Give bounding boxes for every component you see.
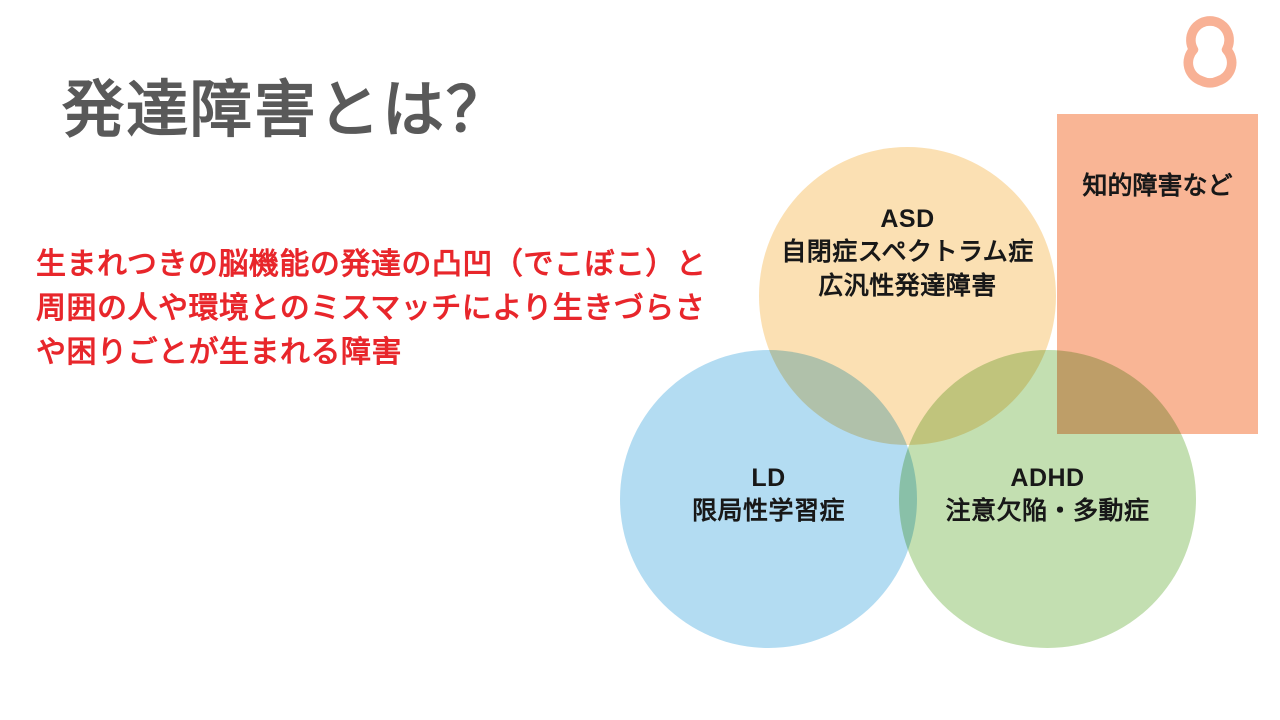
venn-circle-ld [620, 350, 917, 648]
venn-diagram [0, 0, 1280, 720]
trefoil-outline-icon [1166, 14, 1254, 94]
intellectual-disability-label: 知的障害など [1057, 166, 1258, 202]
slide-canvas: 発達障害とは？ 生まれつきの脳機能の発達の凸凹（でこぼこ）と 周囲の人や環境との… [0, 0, 1280, 720]
intellectual-disability-rectangle [1057, 114, 1258, 434]
